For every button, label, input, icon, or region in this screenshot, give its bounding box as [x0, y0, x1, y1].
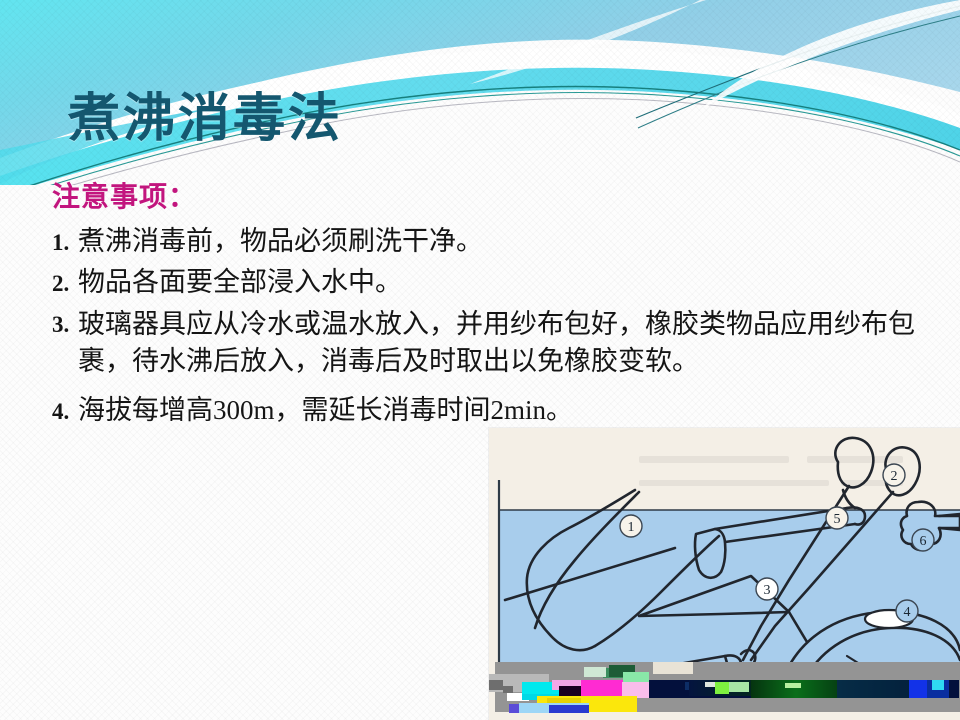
list-item-text: 煮沸消毒前，物品必须刷洗干净。: [78, 224, 932, 259]
water-body: [499, 510, 960, 664]
glitch-block: [653, 662, 693, 674]
glitch-block: [729, 682, 749, 692]
callout-label-5: 5: [834, 512, 841, 527]
list-item-text: 海拔每增高300m，需延长消毒时间2min。: [78, 393, 932, 428]
glitch-block: [837, 680, 917, 698]
list-item: 2. 物品各面要全部浸入水中。: [52, 265, 932, 300]
glitch-block: [584, 667, 606, 677]
glitch-block: [932, 680, 944, 690]
list-item-number: 2.: [52, 265, 78, 299]
list-item-number: 3.: [52, 306, 78, 340]
slide-canvas: 煮沸消毒法 注意事项： 1. 煮沸消毒前，物品必须刷洗干净。 2. 物品各面要全…: [0, 0, 960, 720]
inserted-picture[interactable]: 1 2 3 4 5 6: [489, 428, 960, 720]
list-item-text: 物品各面要全部浸入水中。: [78, 265, 932, 300]
glitch-block: [909, 680, 929, 698]
glitch-block: [489, 680, 503, 690]
glitch-block: [503, 686, 513, 693]
corrupted-image-strip: [489, 656, 960, 720]
callout-label-3: 3: [764, 583, 771, 598]
callout-label-2: 2: [891, 469, 898, 484]
glitch-block: [785, 683, 801, 688]
callout-label-1: 1: [628, 520, 635, 535]
glitch-block: [581, 680, 623, 696]
callout-label-6: 6: [920, 534, 927, 549]
list-item: 1. 煮沸消毒前，物品必须刷洗干净。: [52, 224, 932, 259]
list-item-number: 1.: [52, 224, 78, 258]
glitch-block: [715, 682, 729, 694]
list-item: 4. 海拔每增高300m，需延长消毒时间2min。: [52, 393, 932, 428]
slide-body: 注意事项： 1. 煮沸消毒前，物品必须刷洗干净。 2. 物品各面要全部浸入水中。…: [52, 182, 932, 436]
list-item-text: 玻璃器具应从冷水或温水放入，并用纱布包好，橡胶类物品应用纱布包裹，待水沸后放入，…: [78, 306, 932, 378]
list-item: 3. 玻璃器具应从冷水或温水放入，并用纱布包好，橡胶类物品应用纱布包裹，待水沸后…: [52, 306, 932, 378]
notice-heading: 注意事项：: [52, 182, 932, 214]
list-item-number: 4.: [52, 393, 78, 427]
glitch-block: [549, 705, 589, 713]
slide-title: 煮沸消毒法: [68, 93, 343, 148]
callout-label-4: 4: [904, 605, 911, 620]
